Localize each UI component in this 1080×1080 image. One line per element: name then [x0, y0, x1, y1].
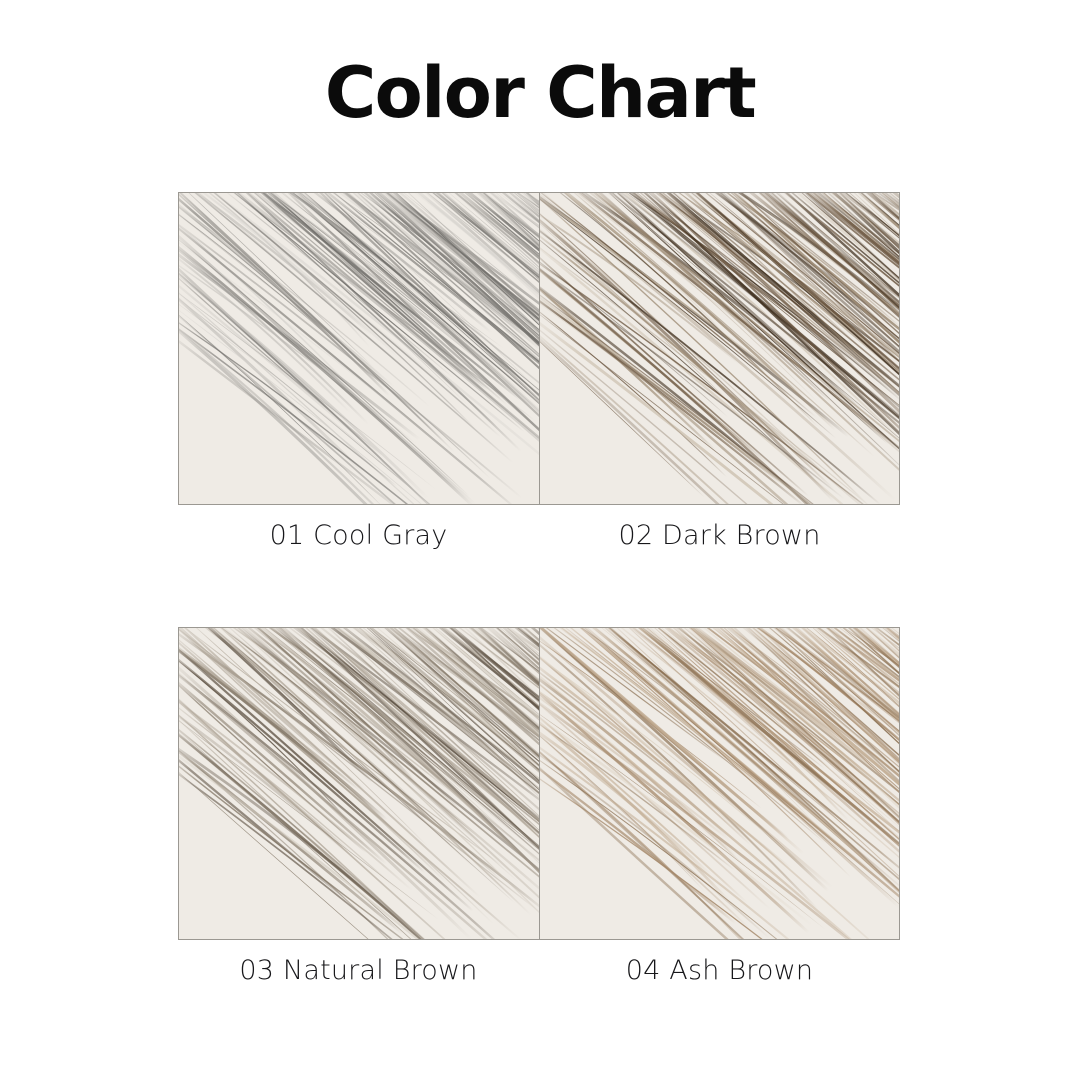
- swatch-label-04: 04 Ash Brown: [539, 949, 900, 999]
- swatch-label-03: 03 Natural Brown: [178, 949, 539, 999]
- swatch-grid: 01 Cool Gray 02 Dark Brown 03 Natural Br…: [178, 192, 900, 938]
- swatch-04-ash-brown[interactable]: [539, 628, 900, 939]
- swatch-row-1: [178, 192, 900, 505]
- hair-stroke: [540, 704, 826, 929]
- swatch-labels-row-1: 01 Cool Gray 02 Dark Brown: [178, 514, 900, 564]
- swatch-03-natural-brown[interactable]: [179, 628, 539, 939]
- hair-stroke-illustration-03: [179, 628, 539, 939]
- page-title: Color Chart: [0, 58, 1080, 128]
- hair-stroke-illustration-02: [540, 193, 900, 504]
- swatch-row-2: [178, 627, 900, 940]
- hair-stroke: [179, 293, 419, 494]
- color-chart-page: Color Chart 01 Cool Gray 02 Dark Brown: [0, 0, 1080, 1080]
- hair-stroke-illustration-01: [179, 193, 539, 504]
- swatch-pair-top: [178, 192, 900, 505]
- hair-stroke-illustration-04: [540, 628, 900, 939]
- swatch-label-02: 02 Dark Brown: [539, 514, 900, 564]
- swatch-01-cool-gray[interactable]: [179, 193, 539, 504]
- swatch-pair-bottom: [178, 627, 900, 940]
- swatch-label-01: 01 Cool Gray: [178, 514, 539, 564]
- swatch-labels-row-2: 03 Natural Brown 04 Ash Brown: [178, 949, 900, 999]
- swatch-02-dark-brown[interactable]: [539, 193, 900, 504]
